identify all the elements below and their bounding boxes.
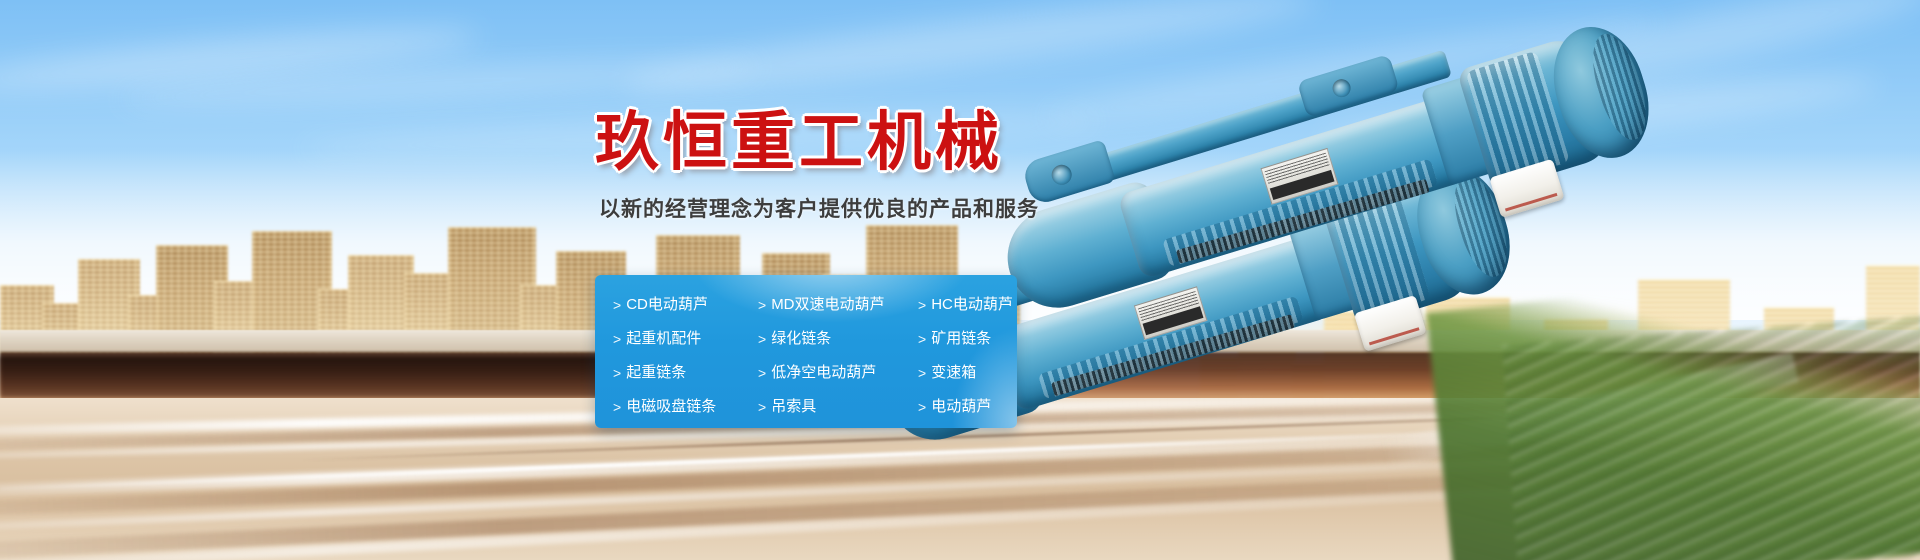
cloud-wisp (0, 17, 481, 100)
road-lane-marking (0, 429, 1499, 491)
road-dark-streak (0, 446, 1920, 560)
skyline-building (78, 259, 140, 355)
city-glow (1210, 300, 1770, 420)
chevron-right-icon: > (918, 298, 926, 312)
cloud-wisp (1320, 66, 1881, 160)
product-link-label: 绿化链条 (771, 331, 831, 346)
skyline-building (1764, 307, 1834, 415)
skyline-building (1292, 363, 1328, 415)
skyline-building (1830, 353, 1870, 415)
skyline-building (1324, 311, 1394, 415)
skyline-building (252, 231, 332, 355)
headline-block: 玖恒重工机械 以新的经营理念为客户提供优良的产品和服务 (595, 108, 1025, 223)
product-link-label: 起重链条 (626, 365, 686, 380)
skyline-building (214, 281, 260, 355)
chevron-right-icon: > (613, 366, 621, 380)
road-light-streak (0, 458, 1920, 560)
roadside-foliage (1426, 259, 1920, 560)
product-link[interactable]: >起重链条 (613, 365, 758, 380)
product-link[interactable]: >低净空电动葫芦 (758, 365, 918, 380)
product-link[interactable]: >变速箱 (918, 365, 1007, 380)
product-link[interactable]: >起重机配件 (613, 331, 758, 346)
page-title: 玖恒重工机械 (595, 108, 1025, 177)
road-curb (1381, 353, 1798, 470)
foliage-motion-streaks (1502, 315, 1920, 560)
chevron-right-icon: > (758, 332, 766, 346)
product-link[interactable]: >MD双速电动葫芦 (758, 297, 918, 312)
chevron-right-icon: > (613, 332, 621, 346)
chevron-right-icon: > (918, 332, 926, 346)
chevron-right-icon: > (613, 298, 621, 312)
chevron-right-icon: > (918, 366, 926, 380)
chevron-right-icon: > (758, 298, 766, 312)
product-link[interactable]: >电动葫芦 (918, 399, 1007, 414)
chevron-right-icon: > (613, 400, 621, 414)
road-dark-streak (0, 420, 1920, 522)
product-link-row: >电磁吸盘链条>吊索具>电动葫芦 (613, 391, 1007, 422)
product-link[interactable]: >矿用链条 (918, 331, 1007, 346)
cloud-wisp (620, 0, 1320, 106)
product-link-label: 吊索具 (771, 399, 816, 414)
skyline-building (348, 255, 414, 355)
skyline-building (42, 303, 82, 355)
skyline-building (1604, 357, 1642, 415)
hero-banner: 玖恒重工机械 以新的经营理念为客户提供优良的产品和服务 >CD电动葫芦>MD双速… (0, 0, 1920, 560)
product-links-panel: >CD电动葫芦>MD双速电动葫芦>HC电动葫芦>起重机配件>绿化链条>矿用链条>… (595, 275, 1017, 428)
product-link[interactable]: >吊索具 (758, 399, 918, 414)
product-link-label: MD双速电动葫芦 (771, 297, 884, 312)
skyline-building (448, 227, 536, 355)
skyline-building (128, 295, 162, 355)
product-link-label: 矿用链条 (931, 331, 991, 346)
cloud-wisp (1041, 7, 1658, 134)
road-light-streak (0, 434, 1920, 537)
product-link-label: 起重机配件 (626, 331, 701, 346)
skyline-building (1390, 351, 1430, 415)
city-skyline-right (1200, 255, 1920, 415)
product-link-row: >起重机配件>绿化链条>矿用链条 (613, 323, 1007, 354)
skyline-building (1426, 297, 1510, 415)
product-link-row: >CD电动葫芦>MD双速电动葫芦>HC电动葫芦 (613, 289, 1007, 320)
skyline-building (404, 273, 454, 355)
cloud-wisp (120, 53, 760, 112)
product-link-label: 电动葫芦 (931, 399, 991, 414)
product-link-label: 变速箱 (931, 365, 976, 380)
product-link[interactable]: >电磁吸盘链条 (613, 399, 758, 414)
cloud-wisp (1500, 0, 1920, 105)
skyline-building (1638, 279, 1730, 415)
skyline-building (1238, 331, 1296, 415)
product-link[interactable]: >绿化链条 (758, 331, 918, 346)
chevron-right-icon: > (918, 400, 926, 414)
product-link-label: HC电动葫芦 (931, 297, 1013, 312)
skyline-building (1544, 319, 1608, 415)
skyline-building (318, 289, 356, 355)
skyline-building (520, 285, 560, 355)
chevron-right-icon: > (758, 400, 766, 414)
skyline-building (1200, 357, 1244, 415)
product-link-label: CD电动葫芦 (626, 297, 708, 312)
skyline-building (1504, 345, 1548, 415)
product-link-label: 低净空电动葫芦 (771, 365, 876, 380)
electric-hoist-upper (967, 0, 1633, 405)
skyline-building (0, 285, 54, 355)
product-link-row: >起重链条>低净空电动葫芦>变速箱 (613, 357, 1007, 388)
page-subtitle: 以新的经营理念为客户提供优良的产品和服务 (599, 193, 1025, 223)
skyline-building (156, 245, 228, 355)
product-link[interactable]: >HC电动葫芦 (918, 297, 1013, 312)
chevron-right-icon: > (758, 366, 766, 380)
product-link[interactable]: >CD电动葫芦 (613, 297, 758, 312)
product-links-grid: >CD电动葫芦>MD双速电动葫芦>HC电动葫芦>起重机配件>绿化链条>矿用链条>… (595, 289, 1017, 422)
skyline-building (1866, 265, 1920, 415)
product-link-label: 电磁吸盘链条 (626, 399, 716, 414)
skyline-building (1724, 341, 1770, 415)
